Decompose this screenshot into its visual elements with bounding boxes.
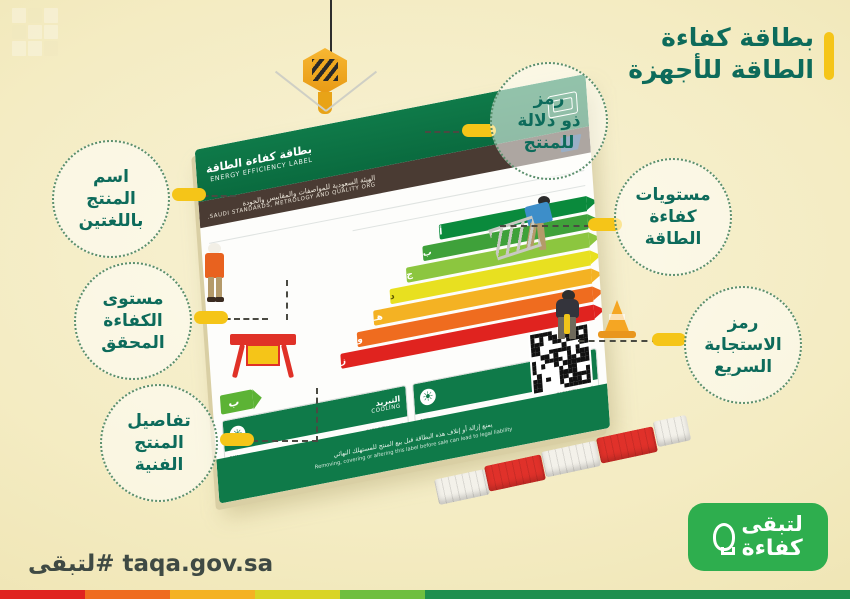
- infographic-canvas: بطاقة كفاءة الطاقة للأجهزة بطاقة كفاءة ا…: [0, 0, 850, 599]
- callout-product-symbol[interactable]: رمز ذو دلالة للمنتج: [490, 62, 608, 180]
- qr-module: [543, 387, 548, 392]
- grade-letter: د: [390, 291, 395, 302]
- traffic-cone-band: [609, 314, 625, 320]
- strip-segment-5: [425, 590, 510, 599]
- qr-module: [534, 388, 539, 393]
- traffic-cone-base: [598, 331, 636, 338]
- brand-logo[interactable]: لتبقى كفاءة: [688, 503, 828, 571]
- worker-figure-orange-vest: [202, 243, 228, 305]
- qr-module: [573, 381, 578, 386]
- road-barrier-segment: [653, 415, 692, 448]
- strip-segment-9: [85, 590, 170, 599]
- qr-module: [582, 379, 587, 384]
- footer-url-text: taqa.gov.sa: [123, 551, 274, 577]
- grade-letter: و: [357, 334, 363, 345]
- qr-module: [538, 387, 543, 392]
- qr-module: [556, 384, 561, 389]
- qr-module: [578, 380, 583, 385]
- strip-segment-10: [0, 590, 85, 599]
- qr-module: [569, 381, 574, 386]
- strip-segment-4: [510, 590, 595, 599]
- sun-icon: [419, 387, 436, 406]
- page-title-line1: بطاقة كفاءة: [484, 22, 814, 54]
- strip-segment-2: [680, 590, 765, 599]
- lightbulb-icon: [713, 523, 735, 551]
- footer-url[interactable]: taqa.gov.sa #لتبقى: [28, 551, 273, 577]
- callout-product-name[interactable]: اسم المنتج باللغتين: [52, 140, 170, 258]
- qr-module: [560, 383, 565, 388]
- strip-segment-8: [170, 590, 255, 599]
- leader-line-technical-details-vertical: [316, 388, 318, 442]
- brand-logo-line2: كفاءة: [741, 536, 802, 561]
- grade-letter: ب: [423, 247, 433, 259]
- strip-segment-6: [340, 590, 425, 599]
- callout-achieved-level[interactable]: مستوى الكفاءة المحقق: [74, 262, 192, 380]
- qr-module: [586, 378, 591, 383]
- leader-line-qr-code: [578, 340, 658, 342]
- grade-letter: هـ: [373, 312, 383, 324]
- worker-figure-at-qr: [553, 290, 583, 342]
- brand-logo-line1: لتبقى: [741, 512, 802, 536]
- footer-hashtag: #لتبقى: [28, 551, 115, 577]
- callout-efficiency-levels[interactable]: مستويات كفاءة الطاقة: [614, 158, 732, 276]
- strip-segment-7: [255, 590, 340, 599]
- leader-line-efficiency-levels: [500, 225, 590, 227]
- road-sawhorse-barrier: [230, 330, 296, 384]
- qr-module: [547, 386, 552, 391]
- callout-qr-code[interactable]: رمز الاستجابة السريع: [684, 286, 802, 404]
- qr-module: [564, 382, 569, 387]
- grade-letter: ج: [406, 269, 413, 280]
- strip-segment-1: [765, 590, 850, 599]
- crane-cable: [330, 0, 332, 52]
- qr-module: [551, 385, 556, 390]
- grade-letter: ز: [340, 355, 346, 366]
- leader-pill-technical-details: [220, 433, 254, 446]
- headline-accent-bar: [824, 32, 834, 80]
- grade-letter: أ: [439, 227, 443, 238]
- leader-pill-product-name: [172, 188, 206, 201]
- leader-pill-achieved-level: [194, 311, 228, 324]
- bottom-color-strip: [0, 590, 850, 599]
- crane-hook-icon: [303, 48, 347, 94]
- leader-pill-qr-code: [652, 333, 686, 346]
- callout-technical-details[interactable]: تفاصيل المنتج الفنية: [100, 384, 218, 502]
- leader-line-achieved-level-vertical: [286, 280, 288, 320]
- strip-segment-3: [595, 590, 680, 599]
- spa-watermark-logo: [12, 8, 58, 56]
